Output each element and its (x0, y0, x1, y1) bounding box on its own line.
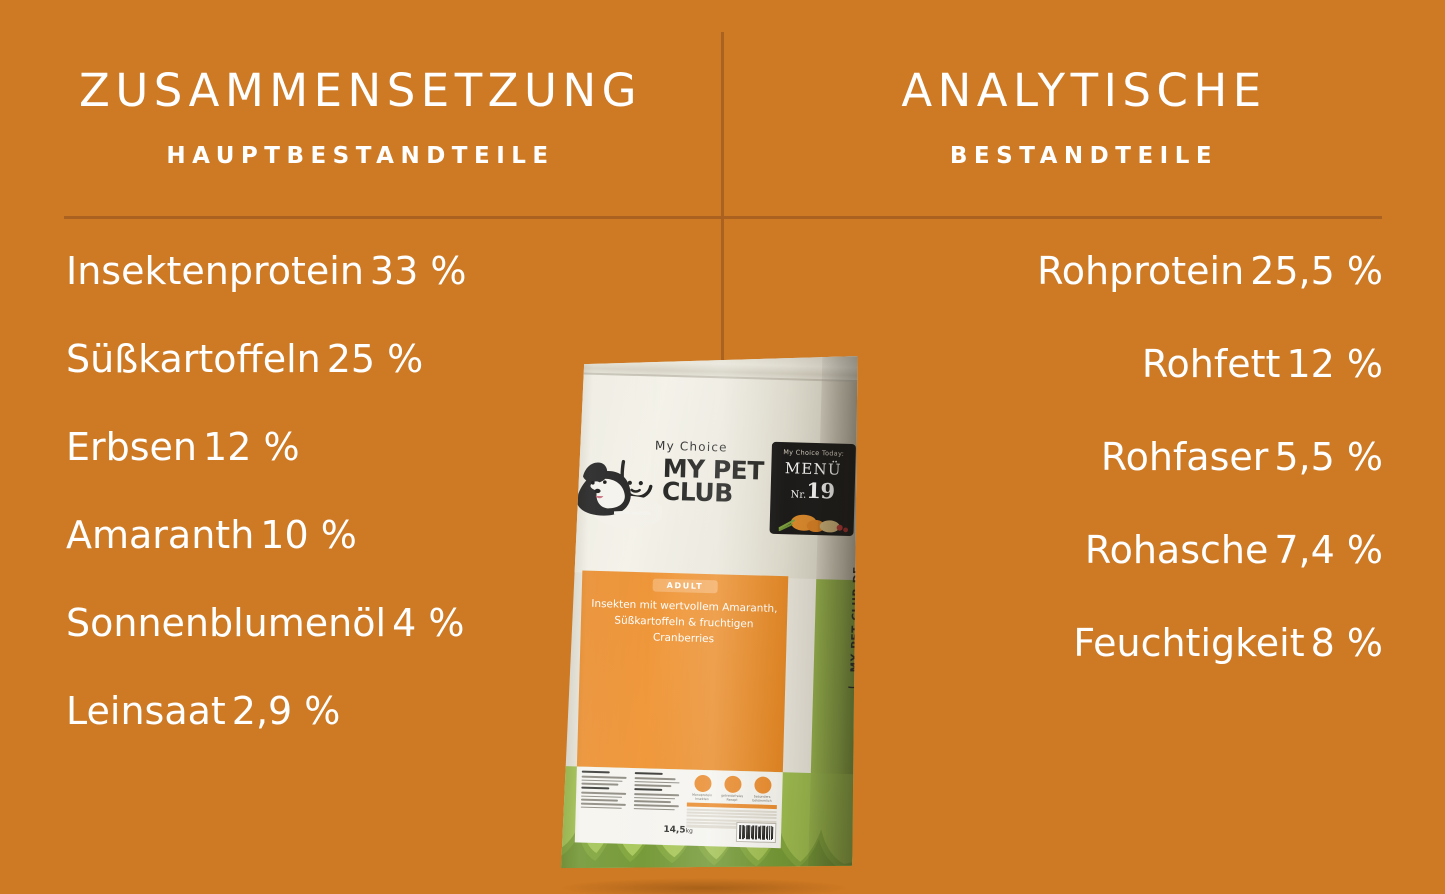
ingredient-name: Leinsaat (66, 689, 226, 733)
list-item: Rohfaser5,5 % (880, 438, 1383, 476)
bag-back-info-panel: Monoprotein Insekten getreidefreies Reze… (575, 766, 783, 848)
bag-orange-panel: ADULT Insekten mit wertvollem Amaranth, … (577, 571, 788, 773)
ingredient-name: Süßkartoffeln (66, 337, 321, 381)
constituent-value: 5,5 % (1274, 435, 1383, 479)
dog-head-icon-small (847, 676, 860, 689)
composition-list: Insektenprotein33 % Süßkartoffeln25 % Er… (66, 252, 626, 780)
grain-free-icon: getreidefreies Rezept (717, 775, 748, 802)
constituent-name: Rohfaser (1101, 435, 1269, 479)
constituent-name: Rohasche (1085, 528, 1268, 572)
list-item: Leinsaat2,9 % (66, 692, 626, 730)
constituent-value: 12 % (1286, 342, 1383, 386)
ingredient-value: 10 % (260, 513, 357, 557)
right-column-title: ANALYTISCHE (723, 64, 1445, 117)
border-collie-photo (569, 452, 663, 533)
bag-side-website: MY PET CLUB.DE (847, 566, 863, 690)
constituent-value: 7,4 % (1274, 528, 1383, 572)
dog-food-bag: My Choice MY PET CLUB ADULT (552, 348, 866, 876)
horizontal-divider (64, 216, 1382, 219)
ingredient-name: Amaranth (66, 513, 254, 557)
feature-icon-row: Monoprotein Insekten getreidefreies Reze… (687, 775, 778, 804)
info-column-2 (633, 772, 684, 828)
right-column-header: ANALYTISCHE BESTANDTEILE (723, 64, 1445, 169)
ingredient-value: 2,9 % (232, 689, 341, 733)
list-item: Feuchtigkeit8 % (880, 624, 1383, 662)
list-item: Rohprotein25,5 % (880, 252, 1383, 290)
digestive-icon: besonders bekömmlich (747, 776, 778, 803)
product-claim-text: Insekten mit wertvollem Amaranth, Süßkar… (586, 597, 781, 650)
ingredient-value: 25 % (327, 337, 424, 381)
single-protein-icon: Monoprotein Insekten (687, 775, 718, 802)
ingredient-value: 4 % (392, 601, 464, 645)
analytical-constituents-list: Rohprotein25,5 % Rohfett12 % Rohfaser5,5… (880, 252, 1383, 717)
constituent-name: Feuchtigkeit (1073, 621, 1304, 665)
bag-side-website-text: MY PET CLUB.DE (848, 566, 863, 673)
left-column-header: ZUSAMMENSETZUNG HAUPTBESTANDTEILE (0, 64, 721, 169)
ingredient-name: Sonnenblumenöl (66, 601, 386, 645)
ingredient-value: 12 % (203, 425, 300, 469)
constituent-name: Rohprotein (1037, 249, 1244, 293)
menu-nr-prefix: Nr. (790, 489, 806, 500)
constituent-value: 8 % (1311, 621, 1383, 665)
ingredient-name: Insektenprotein (66, 249, 364, 293)
list-item: Insektenprotein33 % (66, 252, 626, 290)
info-column-1 (580, 771, 631, 827)
brand-wordmark: MY PET CLUB (662, 457, 764, 506)
left-column-title: ZUSAMMENSETZUNG (0, 64, 721, 117)
constituent-value: 25,5 % (1250, 249, 1383, 293)
product-bag-image: My Choice MY PET CLUB ADULT (552, 352, 872, 894)
ingredient-name: Erbsen (66, 425, 197, 469)
right-column-subtitle: BESTANDTEILE (723, 143, 1445, 169)
list-item: Rohfett12 % (880, 345, 1383, 383)
life-stage-badge: ADULT (653, 579, 718, 594)
list-item: Sonnenblumenöl4 % (66, 604, 626, 642)
infographic-canvas: ZUSAMMENSETZUNG HAUPTBESTANDTEILE ANALYT… (0, 0, 1445, 894)
list-item: Süßkartoffeln25 % (66, 340, 626, 378)
list-item: Erbsen12 % (66, 428, 626, 466)
bag-ground-shadow (558, 878, 850, 894)
list-item: Rohasche7,4 % (880, 531, 1383, 569)
ingredient-value: 33 % (370, 249, 467, 293)
list-item: Amaranth10 % (66, 516, 626, 554)
barcode (736, 822, 777, 843)
left-column-subtitle: HAUPTBESTANDTEILE (0, 143, 721, 169)
constituent-name: Rohfett (1142, 342, 1281, 386)
